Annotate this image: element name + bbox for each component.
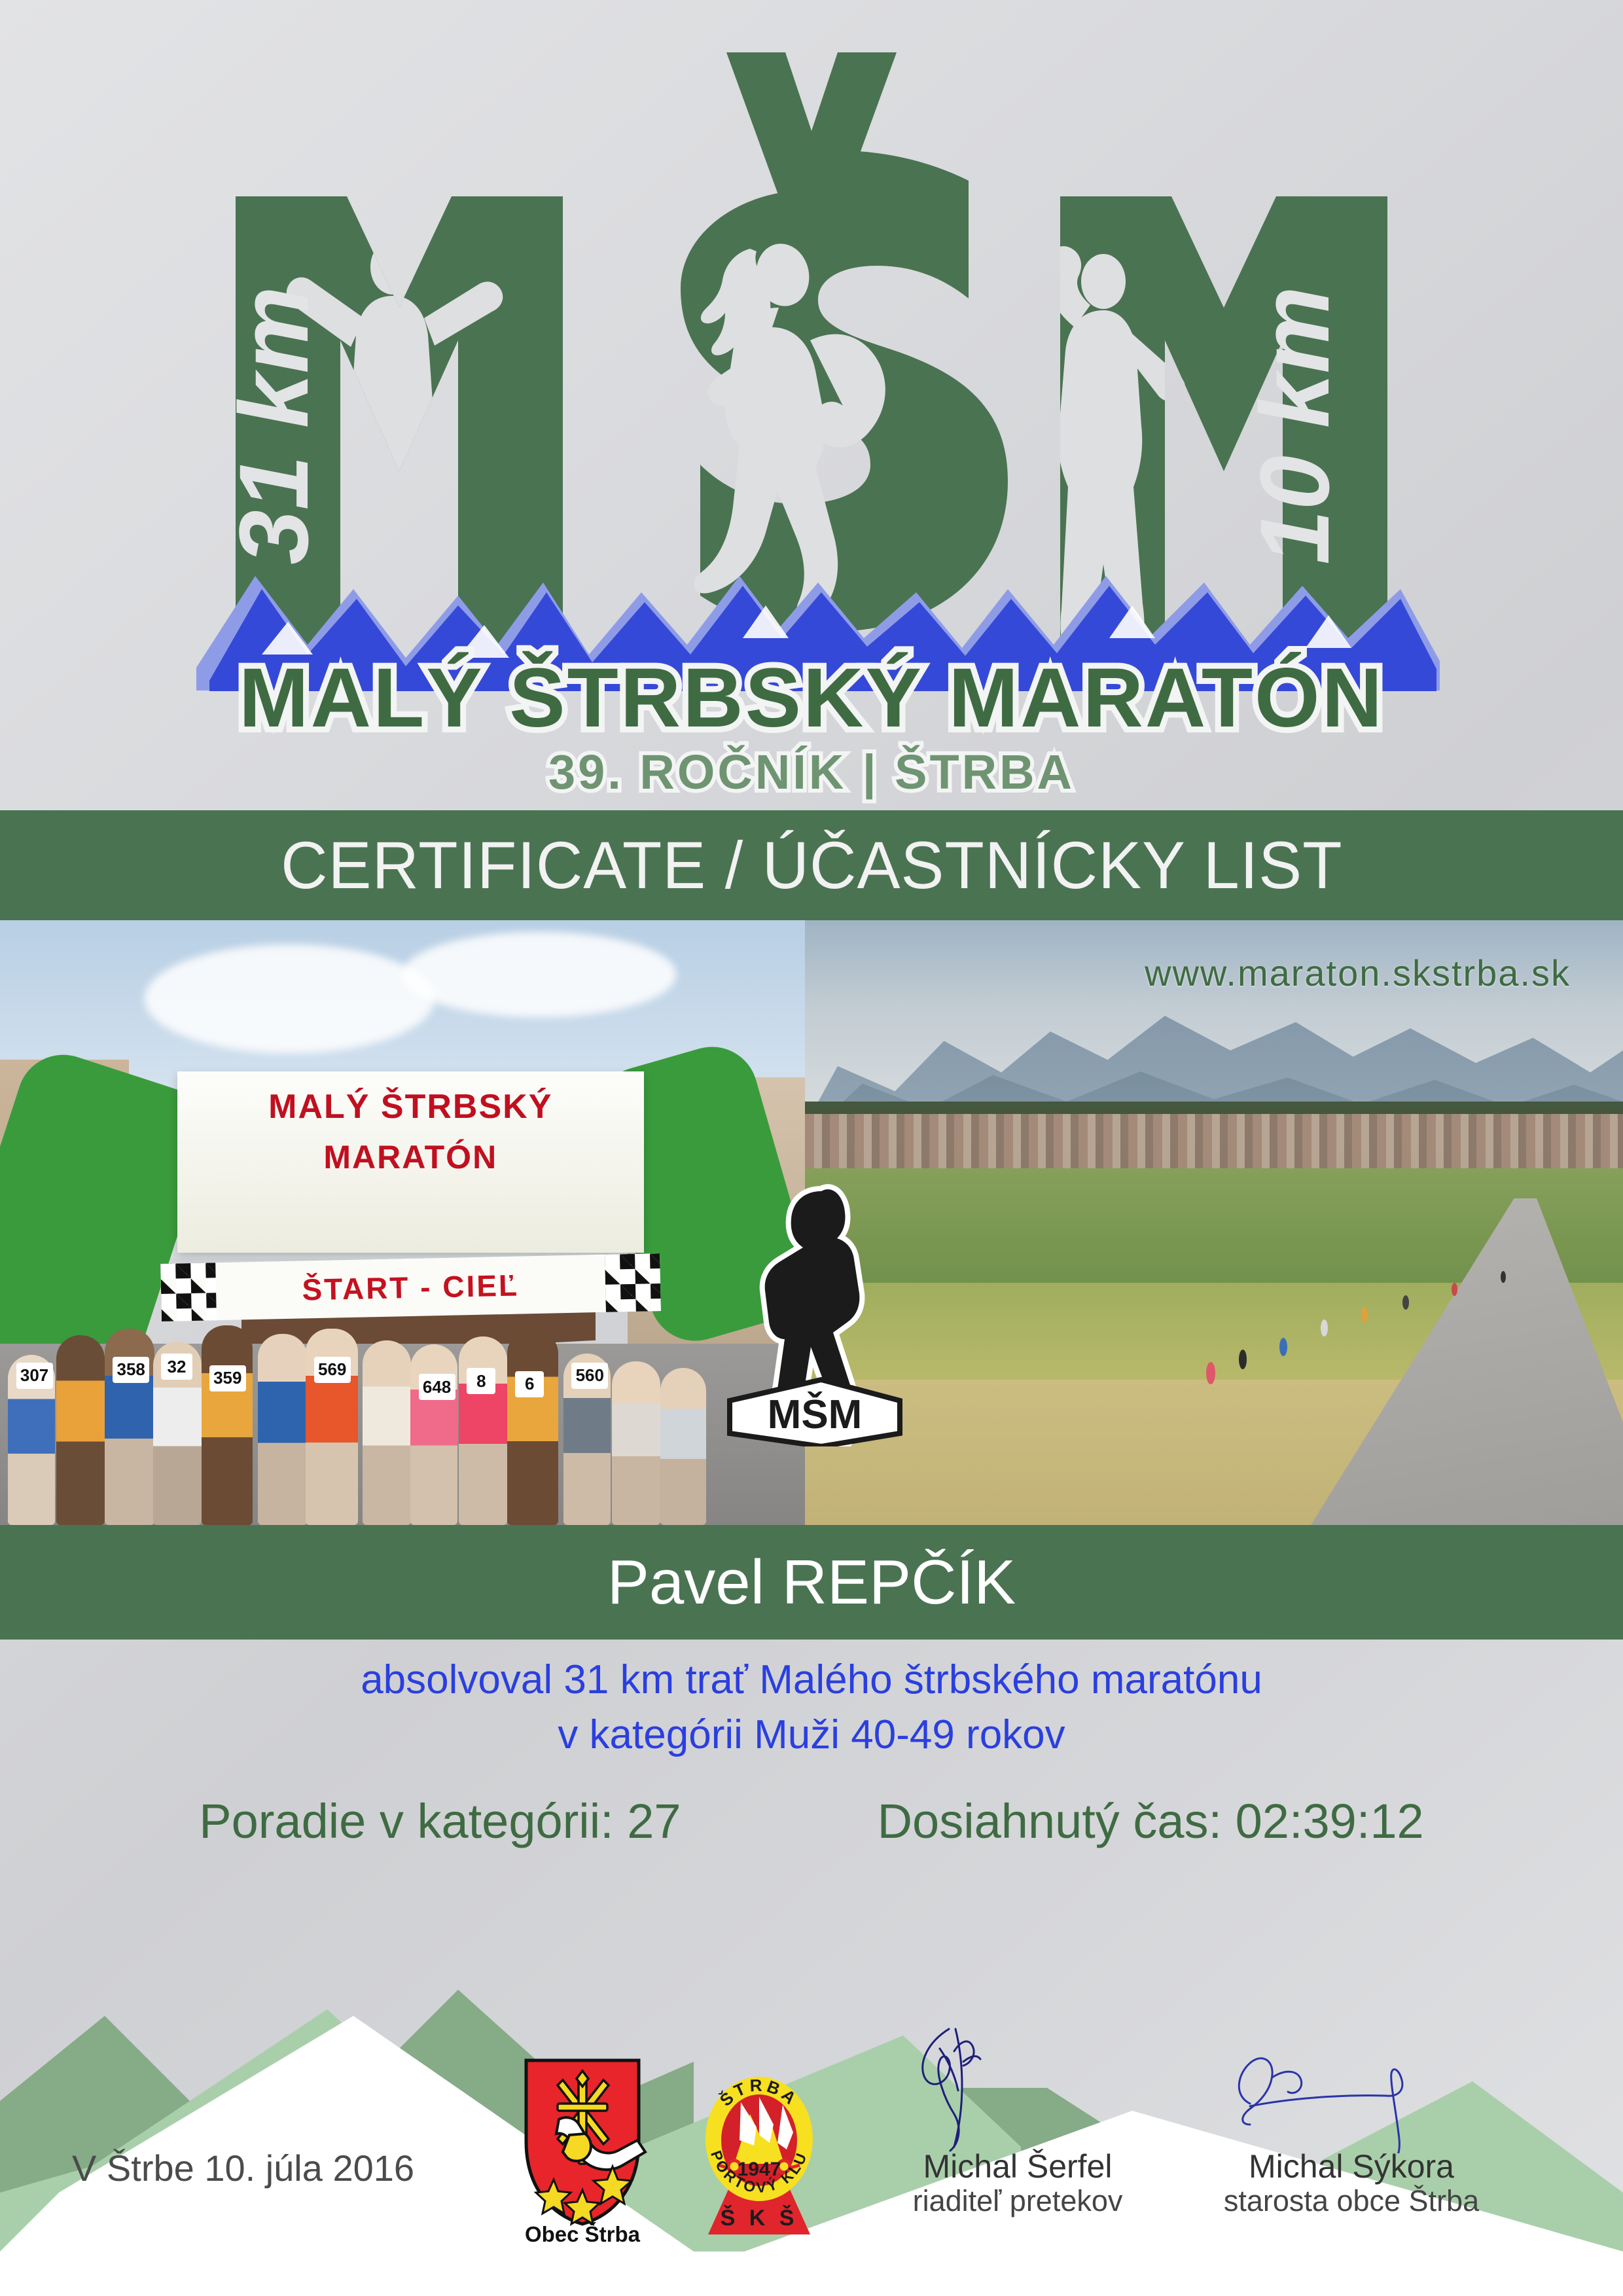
runner	[507, 1330, 558, 1525]
bib-number: 359	[209, 1365, 246, 1391]
category-rank-label: Poradie v kategórii:	[199, 1794, 613, 1848]
runner	[459, 1336, 507, 1525]
bib-number: 358	[113, 1357, 149, 1383]
distance-right-label: 10 km	[1240, 286, 1349, 564]
signatory-name: Michal Sýkora	[1198, 2149, 1505, 2184]
bib-number: 648	[419, 1374, 455, 1400]
village-roofs	[805, 1114, 1623, 1174]
signature-icon	[877, 2022, 1158, 2153]
description-line-2: v kategórii Muži 40-49 rokov	[0, 1708, 1623, 1763]
distant-runner	[1321, 1319, 1328, 1336]
start-line-photo: MALÝ ŠTRBSKÝ MARATÓN ŠTART - CIEĽ	[0, 920, 805, 1525]
achievement-description: absolvoval 31 km trať Malého štrbského m…	[0, 1653, 1623, 1762]
event-banner: MALÝ ŠTRBSKÝ MARATÓN	[177, 1071, 644, 1253]
category-rank: Poradie v kategórii: 27	[199, 1793, 681, 1849]
bib-number: 560	[571, 1363, 608, 1389]
municipality-label: Obec Štrba	[517, 2222, 648, 2247]
bib-number: 8	[467, 1368, 495, 1394]
event-name: MALÝ ŠTRBSKÝ MARATÓN	[239, 651, 1384, 745]
edition-line: 39. ROČNÍK | ŠTRBA	[548, 745, 1075, 800]
club-year: 1947	[738, 2159, 781, 2180]
signature-block-director: Michal Šerfel riaditeľ pretekov	[864, 2022, 1171, 2217]
runner	[410, 1344, 457, 1525]
logo-graphic: 31 km	[0, 0, 1623, 810]
signatory-name: Michal Šerfel	[864, 2149, 1171, 2184]
finish-time: Dosiahnutý čas: 02:39:12	[878, 1793, 1424, 1849]
runner	[56, 1335, 105, 1525]
event-logo: 31 km	[0, 0, 1623, 810]
landscape-photo: www.maraton.skstrba.sk	[805, 920, 1623, 1525]
runner	[202, 1325, 253, 1525]
cloud	[402, 932, 676, 1016]
distance-left-label: 31 km	[219, 286, 329, 564]
banner-line-2: MARATÓN	[177, 1138, 644, 1176]
issue-date: V Štrbe 10. júla 2016	[72, 2147, 414, 2189]
runner	[363, 1340, 411, 1525]
runner	[612, 1361, 660, 1525]
distant-runner	[1501, 1271, 1506, 1283]
distant-runner	[1239, 1350, 1247, 1369]
banner-line-1: MALÝ ŠTRBSKÝ	[177, 1087, 644, 1126]
club-bottom-text: Š K Š	[721, 2205, 798, 2231]
signature-block-mayor: Michal Sýkora starosta obce Štrba	[1198, 2022, 1505, 2217]
finish-time-label: Dosiahnutý čas:	[878, 1794, 1222, 1848]
distant-runner	[1402, 1295, 1409, 1310]
category-rank-value: 27	[627, 1794, 681, 1848]
runner	[660, 1368, 706, 1525]
distant-runner	[1279, 1338, 1287, 1356]
results-row: Poradie v kategórii: 27 Dosiahnutý čas: …	[0, 1793, 1623, 1849]
distant-runner	[1452, 1283, 1457, 1296]
letter-s-middle	[681, 151, 1008, 632]
finish-time-value: 02:39:12	[1236, 1794, 1424, 1848]
cloud	[145, 944, 435, 1053]
distant-runner	[1206, 1362, 1215, 1384]
runner	[258, 1334, 308, 1525]
municipality-crest-icon	[517, 2056, 648, 2246]
msm-runner-emblem: MŠM	[723, 1172, 906, 1446]
runner-crowd: 307 358 32 359 569 648 8 6 560	[0, 1234, 805, 1525]
certificate-footer: V Štrbe 10. júla 2016 Obec Štrba	[0, 2049, 1623, 2296]
participant-name: Pavel REPČÍK	[607, 1551, 1016, 1614]
bib-number: 6	[515, 1371, 544, 1397]
sports-club-logo-icon: ŠTRBA ŠPORTOVÝ KLUB 1947 Š K Š	[694, 2054, 825, 2237]
bib-number: 569	[314, 1357, 351, 1383]
signature-icon	[1211, 2022, 1492, 2153]
msm-emblem-text: MŠM	[768, 1392, 863, 1437]
bib-number: 307	[16, 1363, 53, 1389]
certificate-title: CERTIFICATE / ÚČASTNÍCKY LIST	[281, 832, 1342, 899]
participant-name-band: Pavel REPČÍK	[0, 1525, 1623, 1640]
certificate-page: 31 km	[0, 0, 1623, 2296]
bib-number: 32	[161, 1354, 192, 1380]
description-line-1: absolvoval 31 km trať Malého štrbského m…	[361, 1657, 1262, 1702]
certificate-title-band: CERTIFICATE / ÚČASTNÍCKY LIST	[0, 810, 1623, 920]
signatory-role: riaditeľ pretekov	[864, 2184, 1171, 2218]
signatory-role: starosta obce Štrba	[1198, 2184, 1505, 2218]
website-url: www.maraton.skstrba.sk	[1145, 952, 1571, 994]
